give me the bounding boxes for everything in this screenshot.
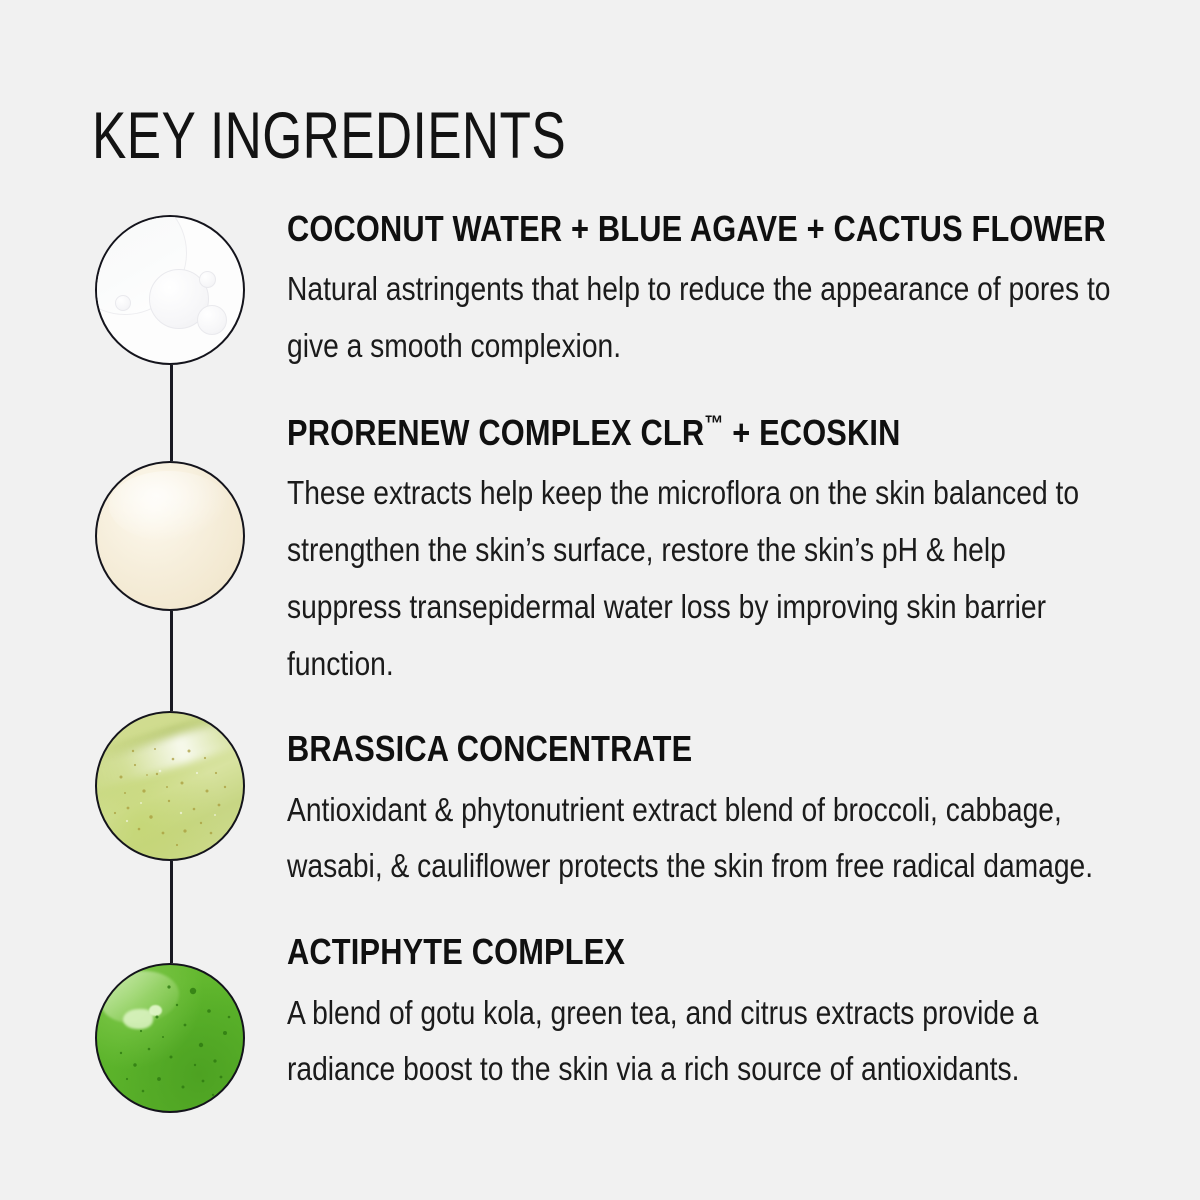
- green-speckle-texture: [97, 965, 245, 1113]
- ingredient-description: These extracts help keep the microflora …: [287, 465, 1122, 692]
- connector-line-3: [170, 861, 173, 963]
- ingredient-entry-prorenew-complex: PRORENEW COMPLEX CLR™ + ECOSKIN These ex…: [287, 411, 1123, 692]
- heading-text-after-trademark: + ECOSKIN: [724, 412, 901, 453]
- actiphyte-complex-swatch: [95, 963, 245, 1113]
- ingredient-heading: BRASSICA CONCENTRATE: [287, 728, 1002, 770]
- ingredient-description: A blend of gotu kola, green tea, and cit…: [287, 985, 1122, 1099]
- cream-sheen-highlight: [109, 471, 229, 541]
- ingredient-heading: COCONUT WATER + BLUE AGAVE + CACTUS FLOW…: [287, 208, 1002, 250]
- ingredient-description: Antioxidant & phytonutrient extract blen…: [287, 782, 1122, 896]
- connector-line-1: [170, 365, 173, 461]
- coconut-water-swatch: [95, 215, 245, 365]
- key-ingredients-panel: KEY INGREDIENTS: [0, 0, 1200, 1200]
- bubble-small-icon: [199, 271, 216, 288]
- ingredient-entry-brassica-concentrate: BRASSICA CONCENTRATE Antioxidant & phyto…: [287, 728, 1123, 895]
- ingredient-heading: ACTIPHYTE COMPLEX: [287, 931, 1002, 973]
- trademark-icon: ™: [704, 411, 723, 436]
- ingredient-swatch-rail: [95, 215, 247, 1113]
- ingredient-list: COCONUT WATER + BLUE AGAVE + CACTUS FLOW…: [287, 208, 1123, 1098]
- ingredient-entry-actiphyte-complex: ACTIPHYTE COMPLEX A blend of gotu kola, …: [287, 931, 1123, 1098]
- ingredient-entry-coconut-water: COCONUT WATER + BLUE AGAVE + CACTUS FLOW…: [287, 208, 1123, 375]
- bubble-medium-icon: [197, 305, 227, 335]
- ingredient-description: Natural astringents that help to reduce …: [287, 261, 1122, 375]
- bubble-tiny-icon: [115, 295, 131, 311]
- prorenew-complex-swatch: [95, 461, 245, 611]
- ingredient-heading: PRORENEW COMPLEX CLR™ + ECOSKIN: [287, 411, 1002, 454]
- gold-speckle-texture: [97, 713, 245, 861]
- page-title: KEY INGREDIENTS: [92, 102, 566, 168]
- brassica-concentrate-swatch: [95, 711, 245, 861]
- heading-text-before-trademark: PRORENEW COMPLEX CLR: [287, 412, 704, 453]
- connector-line-2: [170, 611, 173, 711]
